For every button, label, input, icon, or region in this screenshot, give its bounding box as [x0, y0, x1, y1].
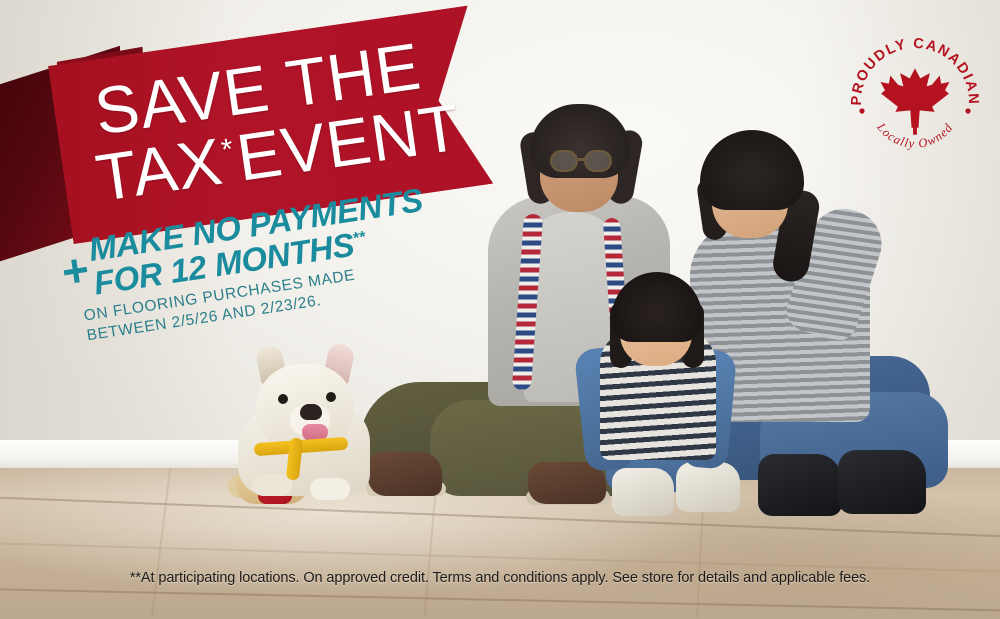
man-glasses-lens-right — [584, 150, 612, 172]
badge-dot-left — [859, 108, 864, 113]
child-shoe-right — [676, 462, 740, 512]
man-boot-left — [368, 452, 442, 496]
badge-dot-right — [965, 108, 970, 113]
dog-nose — [300, 404, 322, 420]
man-hair — [530, 104, 630, 178]
dog-eye-left — [278, 394, 288, 404]
proudly-canadian-badge: PROUDLY CANADIAN Locally Owned — [845, 28, 985, 168]
offer-asterisk: ** — [352, 229, 367, 248]
child-shoe-left — [612, 468, 674, 516]
dog-paw-right — [310, 478, 350, 500]
disclaimer-text: **At participating locations. On approve… — [0, 570, 1000, 586]
woman-hair — [700, 130, 804, 210]
maple-leaf-icon — [881, 68, 950, 134]
woman-sneaker-right — [838, 450, 926, 514]
dog-eye-right — [326, 392, 336, 402]
woman-sneaker-left — [758, 454, 842, 516]
promo-banner: SAVE THE TAX*EVENT + MAKE NO PAYMENTS FO… — [0, 0, 1000, 619]
man-glasses-lens-left — [550, 150, 578, 172]
man-glasses-bridge — [578, 158, 586, 161]
dog-paw-left — [252, 474, 292, 496]
